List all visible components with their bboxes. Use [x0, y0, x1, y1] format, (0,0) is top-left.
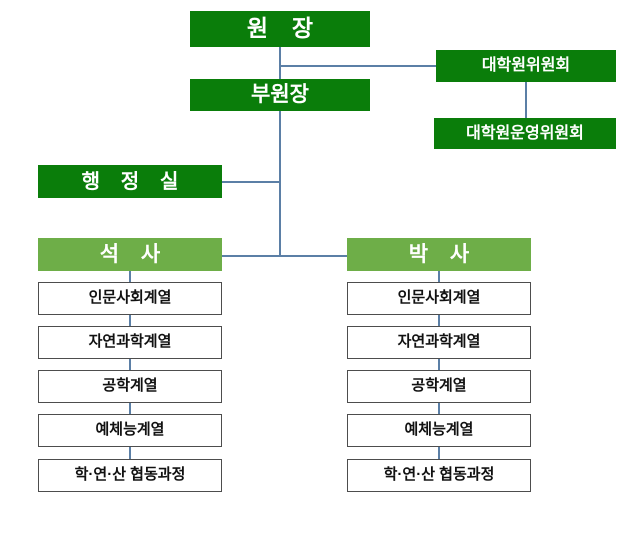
connector-doctoral-to-dept-0: [438, 271, 440, 282]
masters-department-3[interactable]: 예체능계열: [38, 414, 222, 447]
program-masters-label: 석 사: [92, 243, 168, 266]
connector-committee-to-steering: [525, 81, 527, 118]
node-program-doctoral[interactable]: 박 사: [347, 238, 531, 271]
vice-director-label: 부원장: [251, 83, 309, 106]
masters-department-2-label: 공학계열: [102, 378, 157, 395]
masters-department-4-label: 학·연·산 협동과정: [75, 467, 186, 484]
masters-department-2[interactable]: 공학계열: [38, 370, 222, 403]
doctoral-department-3[interactable]: 예체능계열: [347, 414, 531, 447]
director-label: 원 장: [238, 16, 322, 41]
org-chart: 원 장 부원장 대학원위원회 대학원운영위원회 행 정 실 석 사 인문사회계열…: [0, 0, 643, 533]
doctoral-department-4-label: 학·연·산 협동과정: [384, 467, 495, 484]
doctoral-department-4[interactable]: 학·연·산 협동과정: [347, 459, 531, 492]
doctoral-department-1-label: 자연과학계열: [398, 334, 481, 351]
connector-doctoral-dept-1-to-2: [438, 359, 440, 370]
doctoral-department-0-label: 인문사회계열: [398, 290, 481, 307]
program-doctoral-label: 박 사: [401, 243, 477, 266]
connector-director-to-vice: [279, 47, 281, 80]
connector-main-spine: [279, 110, 281, 256]
doctoral-department-3-label: 예체능계열: [404, 422, 473, 439]
node-director[interactable]: 원 장: [190, 11, 370, 47]
doctoral-department-2[interactable]: 공학계열: [347, 370, 531, 403]
masters-department-1-label: 자연과학계열: [89, 334, 172, 351]
connector-masters-dept-0-to-1: [129, 315, 131, 326]
masters-department-1[interactable]: 자연과학계열: [38, 326, 222, 359]
masters-department-4[interactable]: 학·연·산 협동과정: [38, 459, 222, 492]
node-vice-director[interactable]: 부원장: [190, 79, 370, 111]
node-graduate-committee[interactable]: 대학원위원회: [436, 50, 616, 82]
connector-masters-dept-1-to-2: [129, 359, 131, 370]
masters-department-0-label: 인문사회계열: [89, 290, 172, 307]
doctoral-department-2-label: 공학계열: [411, 378, 466, 395]
masters-department-0[interactable]: 인문사회계열: [38, 282, 222, 315]
connector-spine-to-graduate-committee: [279, 65, 437, 67]
graduate-steering-committee-label: 대학원운영위원회: [466, 125, 584, 143]
connector-doctoral-dept-3-to-4: [438, 447, 440, 459]
connector-spine-to-admin: [222, 181, 280, 183]
connector-masters-to-dept-0: [129, 271, 131, 282]
node-program-masters[interactable]: 석 사: [38, 238, 222, 271]
graduate-committee-label: 대학원위원회: [482, 57, 570, 75]
doctoral-department-1[interactable]: 자연과학계열: [347, 326, 531, 359]
masters-department-3-label: 예체능계열: [95, 422, 164, 439]
doctoral-department-0[interactable]: 인문사회계열: [347, 282, 531, 315]
connector-doctoral-dept-2-to-3: [438, 403, 440, 414]
connector-programs-bar: [222, 255, 348, 257]
connector-masters-dept-2-to-3: [129, 403, 131, 414]
admin-office-label: 행 정 실: [74, 171, 186, 193]
node-graduate-steering-committee[interactable]: 대학원운영위원회: [434, 118, 616, 149]
connector-doctoral-dept-0-to-1: [438, 315, 440, 326]
node-admin-office[interactable]: 행 정 실: [38, 165, 222, 198]
connector-masters-dept-3-to-4: [129, 447, 131, 459]
